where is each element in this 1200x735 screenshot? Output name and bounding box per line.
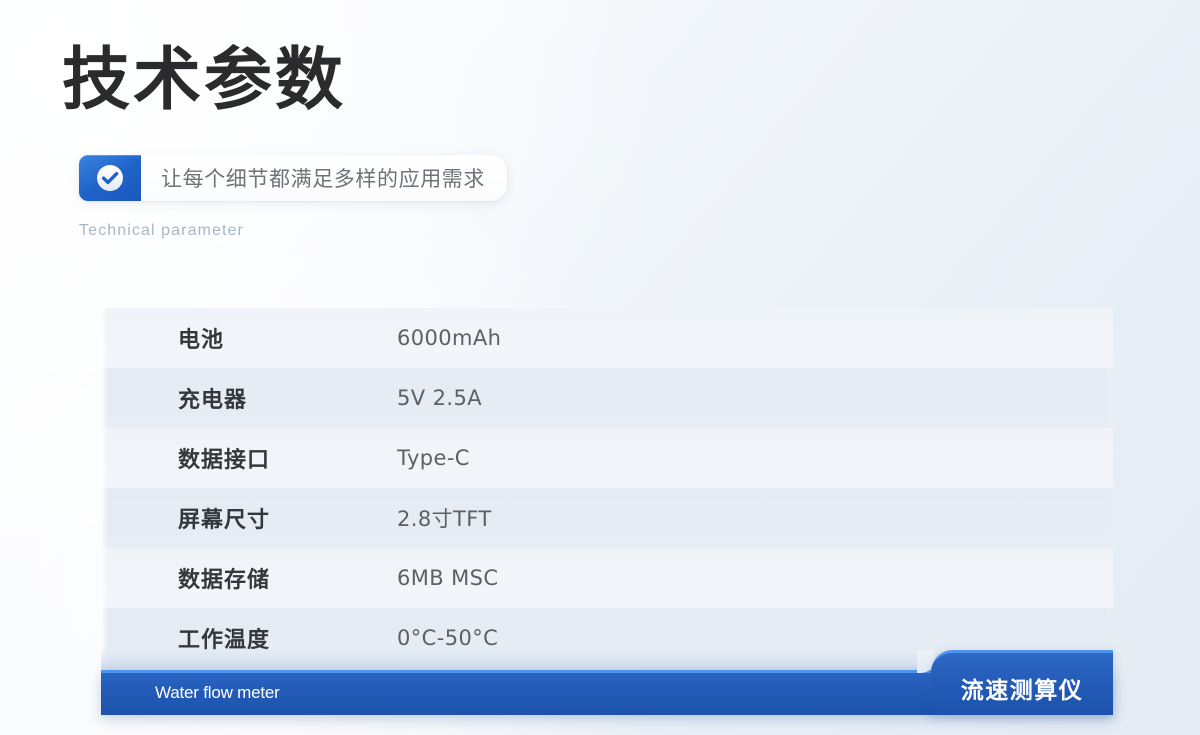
parameter-name: 屏幕尺寸 — [101, 502, 397, 534]
parameter-value: 6000mAh — [397, 326, 501, 350]
parameter-name: 充电器 — [101, 382, 397, 414]
table-row: 数据存储 6MB MSC — [101, 548, 1113, 608]
subtitle-pill: 让每个细节都满足多样的应用需求 — [79, 155, 507, 201]
table-row: 充电器 5V 2.5A — [101, 368, 1106, 428]
parameter-name: 数据接口 — [101, 442, 397, 474]
subtitle-english: Technical parameter — [79, 222, 244, 240]
table-row: 数据接口 Type-C — [101, 428, 1113, 488]
product-name-tab: 流速测算仪 — [931, 650, 1113, 715]
parameter-value: 6MB MSC — [397, 566, 498, 590]
subtitle-text: 让每个细节都满足多样的应用需求 — [141, 155, 507, 201]
table-row: 电池 6000mAh — [101, 308, 1113, 368]
parameters-table: 电池 6000mAh 充电器 5V 2.5A 数据接口 Type-C 屏幕尺寸 … — [101, 308, 1113, 668]
product-name-english: Water flow meter — [155, 670, 280, 715]
parameter-name: 工作温度 — [101, 622, 397, 654]
check-circle-icon — [79, 155, 141, 201]
parameter-value: Type-C — [397, 446, 470, 470]
page-title: 技术参数 — [62, 45, 346, 116]
parameter-value: 2.8寸TFT — [397, 503, 492, 533]
parameter-value: 0°C-50°C — [397, 626, 498, 650]
parameter-value: 5V 2.5A — [397, 386, 482, 410]
footer-bar: Water flow meter 流速测算仪 — [101, 670, 1113, 715]
product-name-chinese: 流速测算仪 — [961, 671, 1084, 705]
parameter-name: 电池 — [101, 322, 397, 354]
parameter-name: 数据存储 — [101, 562, 397, 594]
table-row: 屏幕尺寸 2.8寸TFT — [101, 488, 1106, 548]
technical-parameters-slide: 技术参数 让每个细节都满足多样的应用需求 Technical parameter — [0, 0, 1200, 735]
